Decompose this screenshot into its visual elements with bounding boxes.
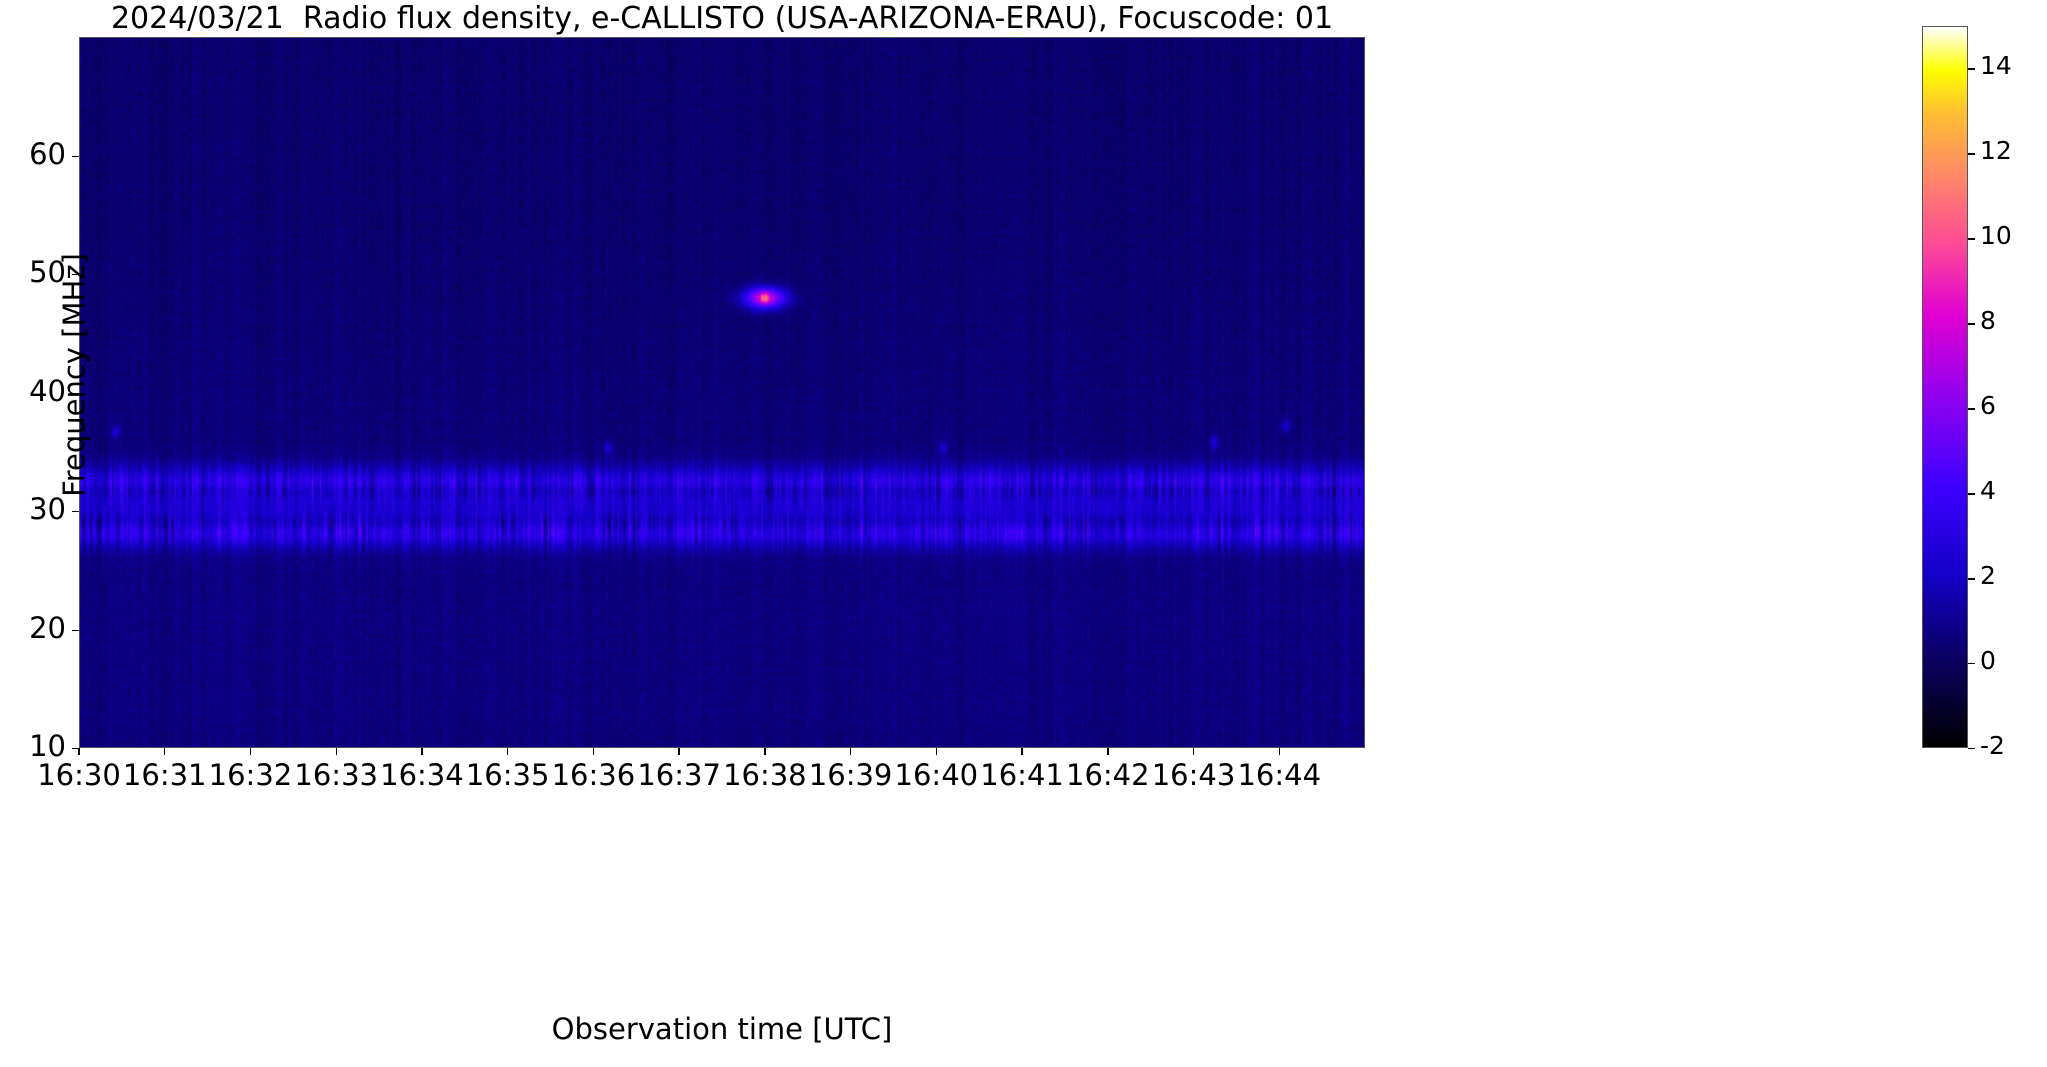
colorbar-tick-label: -2 (1980, 731, 2005, 760)
x-tick-line (1193, 748, 1194, 755)
x-tick-line (250, 748, 251, 755)
page-title: 2024/03/21 Radio flux density, e-CALLIST… (79, 2, 1365, 36)
colorbar-tick-label: 6 (1980, 391, 1996, 420)
colorbar-tick-label: 8 (1980, 306, 1996, 335)
x-tick-line (764, 748, 765, 755)
colorbar-container[interactable]: -202468101214 (1922, 26, 1968, 748)
x-tick-line (936, 748, 937, 755)
colorbar-tick-line (1968, 663, 1975, 664)
x-tick-line (593, 748, 594, 755)
x-tick-line (1021, 748, 1022, 755)
colorbar-tick-line (1968, 68, 1975, 69)
spectrogram-figure: 2024/03/21 Radio flux density, e-CALLIST… (0, 0, 2047, 1067)
x-tick-line (850, 748, 851, 755)
spectrogram-image (80, 38, 1364, 747)
colorbar-tick-label: 2 (1980, 561, 1996, 590)
colorbar-tick-line (1968, 748, 1975, 749)
x-tick-line (421, 748, 422, 755)
colorbar-tick-line (1968, 578, 1975, 579)
x-tick-line (164, 748, 165, 755)
colorbar-tick-line (1968, 408, 1975, 409)
colorbar-tick-line (1968, 153, 1975, 154)
colorbar-tick-label: 14 (1980, 51, 2012, 80)
colorbar-tick-label: 12 (1980, 136, 2012, 165)
spectrogram-plot-area[interactable] (79, 37, 1365, 748)
x-tick-label: 16:44 (1209, 758, 1349, 792)
colorbar-tick-line (1968, 323, 1975, 324)
x-tick-line (678, 748, 679, 755)
x-tick-line (1107, 748, 1108, 755)
y-axis-label: Frequency [MHz] (57, 25, 91, 725)
colorbar-tick-label: 10 (1980, 221, 2012, 250)
x-tick-line (507, 748, 508, 755)
x-axis-label: Observation time [UTC] (79, 1012, 1365, 1046)
x-tick-line (1279, 748, 1280, 755)
colorbar-gradient (1922, 26, 1968, 748)
colorbar-tick-label: 0 (1980, 646, 1996, 675)
x-tick-line (78, 748, 79, 755)
colorbar-tick-line (1968, 493, 1975, 494)
colorbar-tick-line (1968, 238, 1975, 239)
colorbar-tick-label: 4 (1980, 476, 1996, 505)
x-tick-line (336, 748, 337, 755)
